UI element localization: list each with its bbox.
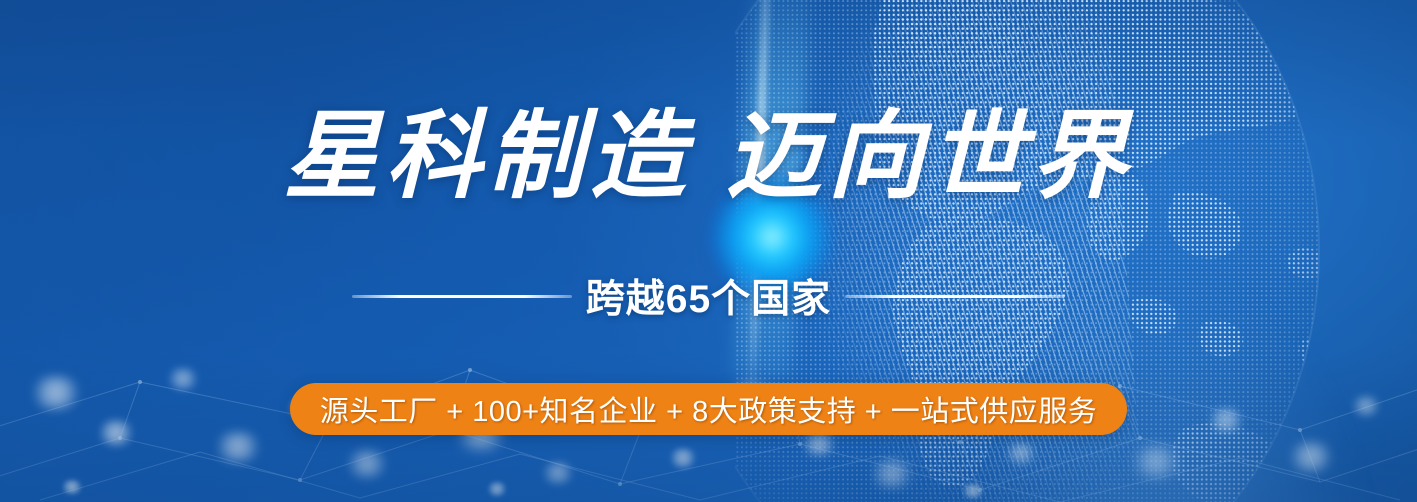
cta-pill-button[interactable]: 源头工厂 + 100+知名企业 + 8大政策支持 + 一站式供应服务 (290, 383, 1128, 435)
promo-banner: 星科制造迈向世界 跨越65个国家 源头工厂 + 100+知名企业 + 8大政策支… (0, 0, 1417, 502)
subtitle-row: 跨越65个国家 (0, 268, 1417, 324)
subtitle-rule-right (845, 295, 1065, 298)
headline: 星科制造迈向世界 (0, 104, 1417, 208)
subtitle-rule-left (352, 295, 572, 298)
headline-part-1: 星科制造 (284, 99, 692, 212)
cta-row: 源头工厂 + 100+知名企业 + 8大政策支持 + 一站式供应服务 (0, 383, 1417, 435)
banner-content: 星科制造迈向世界 跨越65个国家 源头工厂 + 100+知名企业 + 8大政策支… (0, 0, 1417, 502)
cta-pill-label: 源头工厂 + 100+知名企业 + 8大政策支持 + 一站式供应服务 (320, 388, 1098, 430)
headline-part-2: 迈向世界 (726, 99, 1134, 212)
subtitle-text: 跨越65个国家 (586, 268, 831, 324)
